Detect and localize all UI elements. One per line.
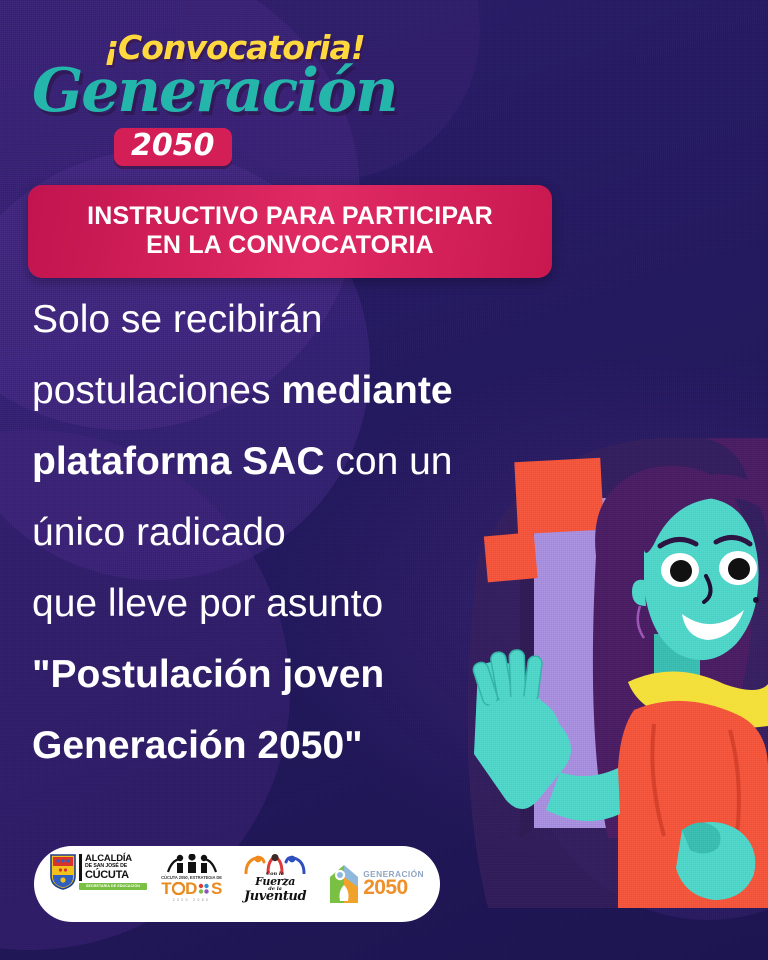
logo-generacion-2050: GENERACIÓN 2050 [328, 854, 424, 914]
alcaldia-line-3: CÚCUTA [85, 870, 147, 881]
people-group-icon [166, 854, 218, 874]
logo-alcaldia-cucuta: ALCALDÍA DE SAN JOSÉ DE CÚCUTA SECRETARÍ… [50, 854, 147, 914]
instructions-banner: INSTRUCTIVO PARA PARTICIPAR EN LA CONVOC… [28, 185, 552, 278]
logo-year-badge: 2050 [114, 128, 232, 166]
copy-line-5: que lleve por asunto [32, 584, 552, 623]
todos-letter-t: T [161, 880, 171, 897]
alcaldia-secretaria-label: SECRETARÍA DE EDUCACIÓN [79, 883, 147, 890]
partner-logo-bar: ALCALDÍA DE SAN JOSÉ DE CÚCUTA SECRETARÍ… [34, 846, 440, 922]
juventud-line-4: Juventud [244, 891, 306, 903]
logo-year-text: 2050 [131, 128, 215, 163]
copy-line-2-bold: mediante [281, 369, 452, 412]
poster-canvas: ¡Convocatoria! Generación 2050 INSTRUCTI… [0, 0, 768, 960]
todos-wordmark: T D S [161, 880, 222, 897]
banner-line-1: INSTRUCTIVO PARA PARTICIPAR [42, 202, 538, 231]
copy-line-2-plain: postulaciones [32, 369, 281, 412]
todos-o-icon [172, 882, 185, 895]
body-copy: Solo se recibirán postulaciones mediante… [32, 300, 552, 797]
todos-years: 2020 2050 [173, 898, 211, 902]
todos-letter-d: D [185, 880, 197, 897]
banner-line-2: EN LA CONVOCATORIA [42, 231, 538, 260]
campaign-logo: ¡Convocatoria! Generación 2050 [26, 22, 356, 162]
logo-fuerza-juventud: Con la Fuerza de la Juventud [236, 854, 314, 914]
generacion-2050-number: 2050 [363, 877, 424, 898]
todos-dots-icon [197, 882, 210, 895]
copy-line-6: "Postulación joven [32, 655, 552, 694]
copy-line-3-bold: plataforma SAC [32, 440, 325, 483]
logo-generacion-text: Generación [32, 56, 397, 126]
copy-line-1: Solo se recibirán [32, 300, 552, 339]
copy-line-7: Generación 2050" [32, 726, 552, 765]
coat-of-arms-icon [50, 854, 76, 890]
copy-line-4: único radicado [32, 513, 552, 552]
copy-line-3: plataforma SAC con un [32, 442, 552, 481]
logo-cucuta-todos: CÚCUTA 2050, ESTRATEGIA DE T D S 2020 20… [161, 854, 222, 914]
copy-line-2: postulaciones mediante [32, 371, 552, 410]
copy-line-3-plain: con un [325, 440, 453, 483]
todos-letter-s: S [211, 880, 222, 897]
generacion-emblem-icon [328, 863, 360, 905]
